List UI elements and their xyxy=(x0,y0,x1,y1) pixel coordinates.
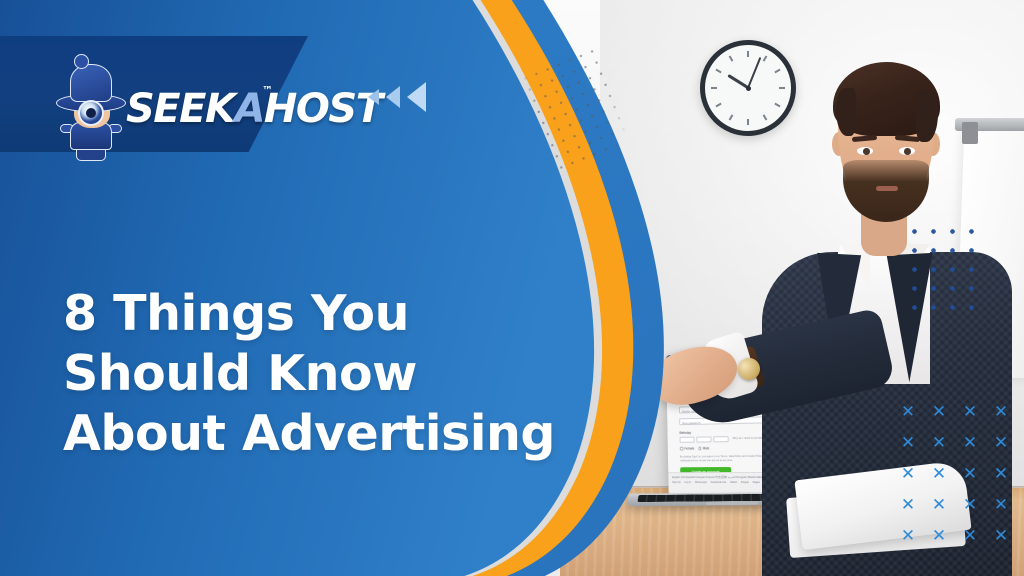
arrow-decoration-group xyxy=(368,82,426,112)
headline-text: 8 Things You Should Know About Advertisi… xyxy=(63,284,555,463)
arrow-left-medium-icon xyxy=(386,86,400,108)
arrow-left-small-icon xyxy=(368,89,379,105)
headline-line-2: Should Know xyxy=(63,344,555,404)
headline-line-3: About Advertising xyxy=(63,404,555,464)
magnifier-lens-center xyxy=(86,108,96,118)
wordmark-host: HOST xyxy=(264,86,382,132)
wordmark-seek: SEEK xyxy=(126,86,234,132)
brand-wordmark: SEEKAHOST xyxy=(126,86,382,132)
wordmark-a: A xyxy=(234,86,263,132)
promo-banner: f Email or Phone Password Create an acco… xyxy=(0,0,1024,576)
trademark-symbol: ™ xyxy=(262,84,273,97)
mascot-hat-crown xyxy=(70,64,112,102)
detective-mascot-icon xyxy=(50,48,130,158)
arrow-left-large-icon xyxy=(407,82,426,112)
headline-line-1: 8 Things You xyxy=(63,284,555,344)
mascot-hat-knot xyxy=(74,54,89,69)
